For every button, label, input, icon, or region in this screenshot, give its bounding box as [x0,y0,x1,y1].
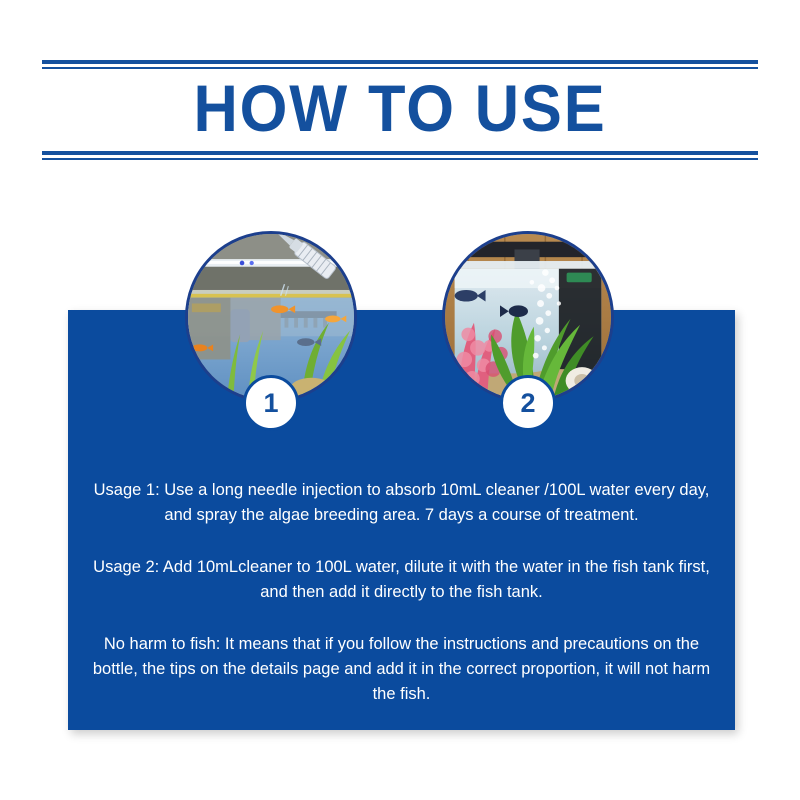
step-number-badge: 1 [243,375,299,431]
usage-2-paragraph: Usage 2: Add 10mLcleaner to 100L water, … [88,555,715,605]
step-2: 2 [442,231,614,403]
header: HOW TO USE [0,0,800,200]
instructions-text: Usage 1: Use a long needle injection to … [88,478,715,707]
step-photos: 1 [0,231,800,481]
step-number-badge: 2 [500,375,556,431]
header-rule-top-thick [42,60,758,64]
header-rule-bottom-thick [42,151,758,155]
no-harm-paragraph: No harm to fish: It means that if you fo… [88,632,715,707]
step-1: 1 [185,231,357,403]
usage-1-paragraph: Usage 1: Use a long needle injection to … [88,478,715,528]
how-to-use-infographic: HOW TO USE [0,0,800,800]
page-title: HOW TO USE [28,68,772,148]
header-rule-bottom-thin [42,158,758,160]
